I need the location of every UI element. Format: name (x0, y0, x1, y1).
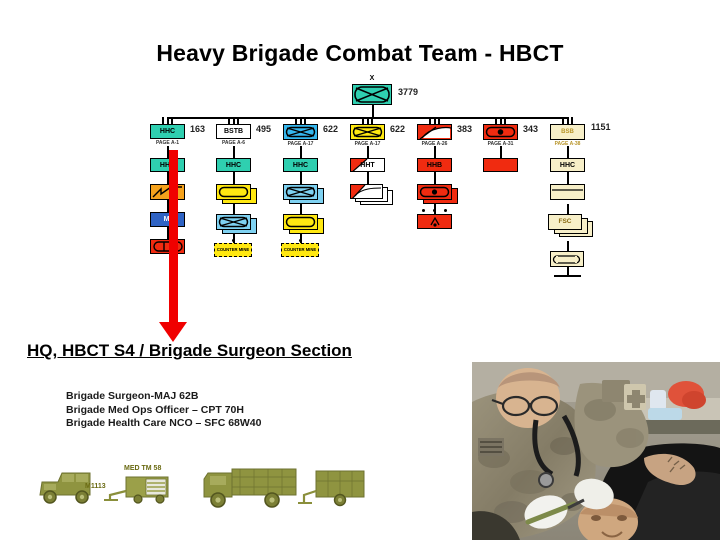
vehicle-illustrations (28, 455, 368, 520)
armor-cavalry-icon (352, 126, 383, 138)
col4-link-b (367, 172, 369, 184)
unit-symbol-hhc-1: HHC (150, 124, 185, 139)
self-propelled-artillery-icon (419, 186, 450, 198)
armor-cavalry-icon (218, 216, 249, 228)
unit-symbol-cavalry-3b (283, 184, 318, 200)
hht-label: HHT (360, 162, 374, 169)
org-col1-child1: HHC (150, 158, 185, 172)
mech-infantry-icon (152, 240, 184, 253)
org-col4-child2 (350, 184, 383, 199)
lmtv-truck-icon (204, 467, 300, 507)
unit-symbol-artillery-5b (417, 184, 452, 200)
section-heading: HQ, HBCT S4 / Brigade Surgeon Section (27, 341, 352, 361)
brigade-symbol (352, 84, 392, 105)
unit-symbol-bstb: BSTB (216, 124, 251, 139)
armor-cavalry-icon (354, 86, 390, 103)
unit-symbol-hhc-2a: HHC (216, 158, 251, 172)
unit-symbol-maintenance (550, 251, 584, 267)
unit-symbol-hhb-5a: HHB (417, 158, 452, 172)
unit-symbol-supply-7b (550, 184, 585, 200)
self-propelled-artillery-icon (485, 126, 516, 138)
team-dot-icon (232, 239, 235, 242)
cavalry-diagonal-icon (351, 185, 383, 199)
unit-symbol-artillery-6 (483, 124, 518, 140)
unit-symbol-countermine-2: COUNTER MINE (214, 243, 252, 257)
org-col3-child2 (283, 184, 318, 200)
medic-treating-patient-photo (472, 362, 720, 540)
org-col7-child3: FSC (548, 214, 582, 230)
org-col1-child4 (150, 239, 185, 254)
unit-symbol-cab-4 (350, 124, 385, 140)
org-top-unit: X 3779 (352, 84, 392, 105)
org-chart: X 3779 HHC PAGE A-1 163 HHC (140, 78, 700, 328)
armor-cavalry-icon (285, 186, 316, 198)
unit-symbol-hhc-1a: HHC (150, 158, 185, 172)
page-title: Heavy Brigade Combat Team - HBCT (0, 40, 720, 67)
brigade-quantity: 3779 (398, 87, 418, 97)
org-col5-child3 (417, 214, 452, 229)
unit-qty-3: 622 (323, 124, 338, 134)
org-col7-child1: HHC (550, 158, 585, 172)
org-col7-child4 (550, 251, 584, 267)
red-arrow-shaft (169, 150, 178, 328)
unit-symbol-armor-3c (283, 214, 318, 230)
hmmwv-icon (40, 473, 90, 503)
col5-link-a (434, 146, 436, 158)
col5-link-b (434, 172, 436, 184)
org-col3-child1: HHC (283, 158, 318, 172)
col3-link-a (300, 146, 302, 158)
org-col6-child1 (483, 158, 518, 172)
unit-symbol-mi: MI (150, 212, 185, 227)
wrench-icon (552, 253, 582, 266)
unit-symbol-mlrs-5c (417, 214, 452, 229)
slide-canvas: Heavy Brigade Combat Team - HBCT X 3779 … (0, 0, 720, 540)
supply-icon (551, 185, 584, 199)
unit-symbol-recon-5 (417, 124, 452, 140)
org-col-3: PAGE A-17 622 (283, 124, 318, 140)
org-col2-child3 (216, 214, 251, 230)
armor-icon (218, 186, 249, 198)
org-col-4: PAGE A-17 622 (350, 124, 385, 140)
org-col-7: BSB PAGE A-38 1151 (550, 124, 585, 140)
red-arrow-head (159, 322, 187, 342)
unit-symbol-hht-4a: HHT (350, 158, 385, 172)
unit-symbol-cab-3 (283, 124, 318, 140)
unit-symbol-recon-4b (350, 184, 383, 199)
unit-symbol-bsb: BSB (550, 124, 585, 140)
med-trailer-icon (104, 477, 168, 503)
org-col4-child1: HHT (350, 158, 385, 172)
col7-link-c (567, 204, 569, 214)
org-col-6: PAGE A-31 343 (483, 124, 518, 140)
echelon-x-label: X (370, 75, 375, 82)
vehicle-group: M1113 MED TM 58 (28, 455, 368, 525)
col2-link-c (233, 203, 235, 214)
trailer-label: MED TM 58 (124, 465, 161, 472)
org-col-1: HHC PAGE A-1 163 (150, 124, 185, 139)
hmmwv-label: M1113 (85, 483, 106, 490)
col3-link-b (300, 172, 302, 184)
org-col1-child2 (150, 184, 185, 200)
col7-link-a (567, 146, 569, 158)
unit-symbol-hhb-6a (483, 158, 518, 172)
countermine-label-3: COUNTER MINE (284, 248, 316, 252)
battery-dot-1-icon (422, 209, 425, 212)
armor-cavalry-icon (285, 126, 316, 138)
org-col3-child4: COUNTER MINE (281, 243, 319, 257)
org-col5-child2 (417, 184, 452, 200)
org-col2-child1: HHC (216, 158, 251, 172)
col2-link-b (233, 172, 235, 184)
engineer-icon (151, 185, 184, 199)
unit-qty-6: 343 (523, 124, 538, 134)
col7-link-b (567, 172, 569, 184)
unit-qty-4: 622 (390, 124, 405, 134)
org-col2-child2 (216, 184, 251, 200)
unit-qty-2: 495 (256, 124, 271, 134)
org-col5-child1: HHB (417, 158, 452, 172)
unit-symbol-engineer (150, 184, 185, 200)
col4-link-a (367, 146, 369, 158)
unit-qty-7: 1151 (591, 122, 611, 132)
col3-link-c (300, 203, 302, 214)
col7-link-d (567, 241, 569, 251)
org-col3-child3 (283, 214, 318, 230)
unit-symbol-hhc-7a: HHC (550, 158, 585, 172)
unit-symbol-hhc-3a: HHC (283, 158, 318, 172)
unit-qty-5: 383 (457, 124, 472, 134)
battery-dot-3-icon (444, 209, 447, 212)
roster-list: Brigade Surgeon-MAJ 62B Brigade Med Ops … (66, 390, 261, 431)
roster-line-3: Brigade Health Care NCO – SFC 68W40 (66, 417, 261, 431)
team-dot-icon (299, 239, 302, 242)
unit-symbol-armor-2b (216, 184, 251, 200)
unit-symbol-fsc: FSC (548, 214, 582, 230)
countermine-label-2: COUNTER MINE (217, 248, 249, 252)
unit-qty-1: 163 (190, 124, 205, 134)
rocket-artillery-icon (421, 216, 449, 227)
roster-line-1: Brigade Surgeon-MAJ 62B (66, 390, 261, 404)
unit-symbol-cavalry-2c (216, 214, 251, 230)
col6-link-a (500, 146, 502, 158)
unit-symbol-signal (150, 239, 185, 254)
cargo-trailer-icon (298, 471, 364, 506)
org-col-2: BSTB PAGE A-6 495 (216, 124, 251, 139)
roster-line-2: Brigade Med Ops Officer – CPT 70H (66, 404, 261, 418)
col2-link-a (233, 146, 235, 158)
org-col2-child4: COUNTER MINE (214, 243, 252, 257)
medic-photo (472, 362, 720, 540)
unit-symbol-countermine-3: COUNTER MINE (281, 243, 319, 257)
org-col-5: PAGE A-26 383 (417, 124, 452, 140)
org-col1-child3: MI (150, 212, 185, 227)
recon-squadron-icon (418, 125, 452, 140)
armor-icon (285, 216, 316, 228)
battery-dot-2-icon (433, 209, 436, 212)
org-col7-child2 (550, 184, 585, 200)
